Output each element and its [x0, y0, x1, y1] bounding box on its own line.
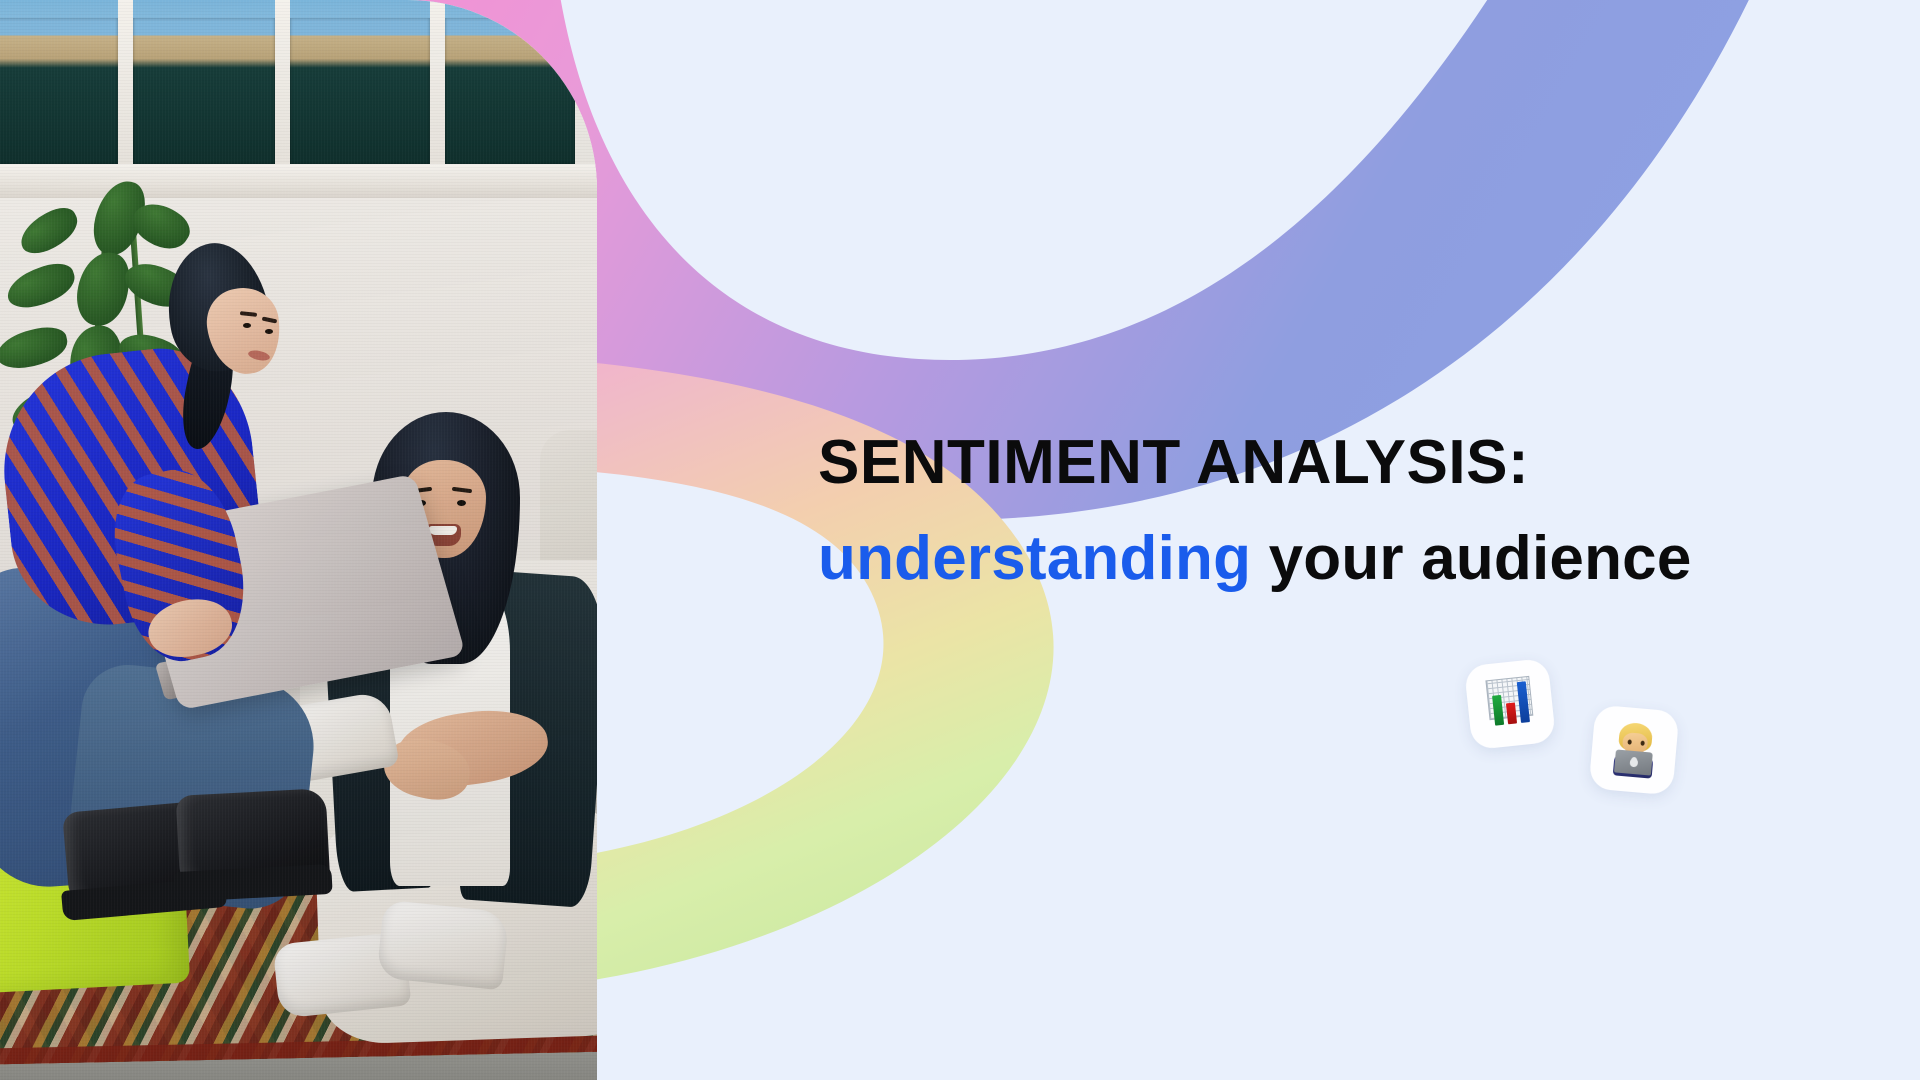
woman-technologist-emoji-tile — [1588, 704, 1679, 795]
headline-line-1: SENTIMENT ANALYSIS: — [818, 430, 1858, 496]
apple-logo-icon — [1629, 758, 1638, 768]
emoji-tile-group — [1468, 662, 1768, 822]
headline-line-2: understanding your audience — [818, 526, 1858, 592]
page-title: SENTIMENT ANALYSIS: understanding your a… — [818, 430, 1858, 591]
bar-chart-icon — [1479, 675, 1540, 733]
laptop-icon — [1614, 749, 1653, 775]
photo-film-grain — [0, 0, 597, 1080]
lifestyle-photo-two-people-with-laptop — [0, 0, 597, 1080]
woman-technologist-icon — [1603, 720, 1666, 781]
slide-canvas: SENTIMENT ANALYSIS: understanding your a… — [0, 0, 1920, 1080]
headline-accent-word: understanding — [818, 524, 1251, 593]
headline-line-2-rest: your audience — [1251, 524, 1691, 593]
bar-chart-emoji-tile — [1464, 658, 1556, 750]
